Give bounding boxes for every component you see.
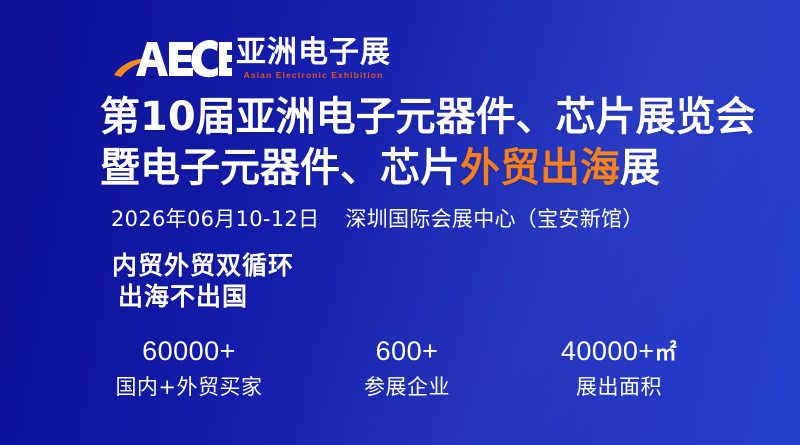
stat-item: 60000+ 国内+外贸买家 <box>114 338 264 398</box>
stat-value: 40000+㎡ <box>561 338 677 365</box>
logo-chinese-name: 亚洲电子展 <box>236 38 391 68</box>
stat-label: 参展企业 <box>364 377 450 398</box>
headline-line-1: 第10届亚洲电子元器件、芯片展览会 <box>100 92 730 143</box>
stat-item: 600+ 参展企业 <box>332 338 482 398</box>
event-stats: 60000+ 国内+外贸买家 600+ 参展企业 40000+㎡ 展出面积 <box>110 338 700 398</box>
headline-line-2-suffix: 展 <box>620 145 660 191</box>
event-date: 2026年06月10-12日 <box>111 207 319 231</box>
stat-item: 40000+㎡ 展出面积 <box>544 338 694 398</box>
slogan-line-2: 出海不出国 <box>112 281 294 312</box>
stat-number: 600+ <box>376 336 439 366</box>
stat-number: 40000+ <box>561 336 655 366</box>
stat-label: 国内+外贸买家 <box>115 377 262 398</box>
headline-line-2: 暨电子元器件、芯片外贸出海展 <box>100 143 730 194</box>
logo-english-name: Asian Electronic Exhibition <box>244 71 384 80</box>
aece-logo: 亚洲电子展 Asian Electronic Exhibition <box>114 30 391 80</box>
stat-value: 60000+ <box>142 338 236 365</box>
event-poster: 亚洲电子展 Asian Electronic Exhibition 第10届亚洲… <box>0 0 800 445</box>
stat-number: 60000+ <box>142 336 236 366</box>
slogan-line-1: 内贸外贸双循环 <box>112 250 294 281</box>
stat-unit: ㎡ <box>655 341 678 366</box>
headline-line-2-prefix: 暨电子元器件、芯片 <box>100 145 460 191</box>
aece-wordmark-icon <box>114 34 232 80</box>
event-date-venue: 2026年06月10-12日深圳国际会展中心（宝安新馆） <box>111 209 644 230</box>
stat-label: 展出面积 <box>576 377 662 398</box>
page-title: 第10届亚洲电子元器件、芯片展览会 暨电子元器件、芯片外贸出海展 <box>100 92 730 194</box>
event-venue: 深圳国际会展中心（宝安新馆） <box>345 207 643 231</box>
headline-highlight: 外贸出海 <box>460 145 620 191</box>
stat-value: 600+ <box>376 338 439 365</box>
event-slogan: 内贸外贸双循环 出海不出国 <box>112 250 294 312</box>
logo-text-block: 亚洲电子展 Asian Electronic Exhibition <box>236 38 391 81</box>
